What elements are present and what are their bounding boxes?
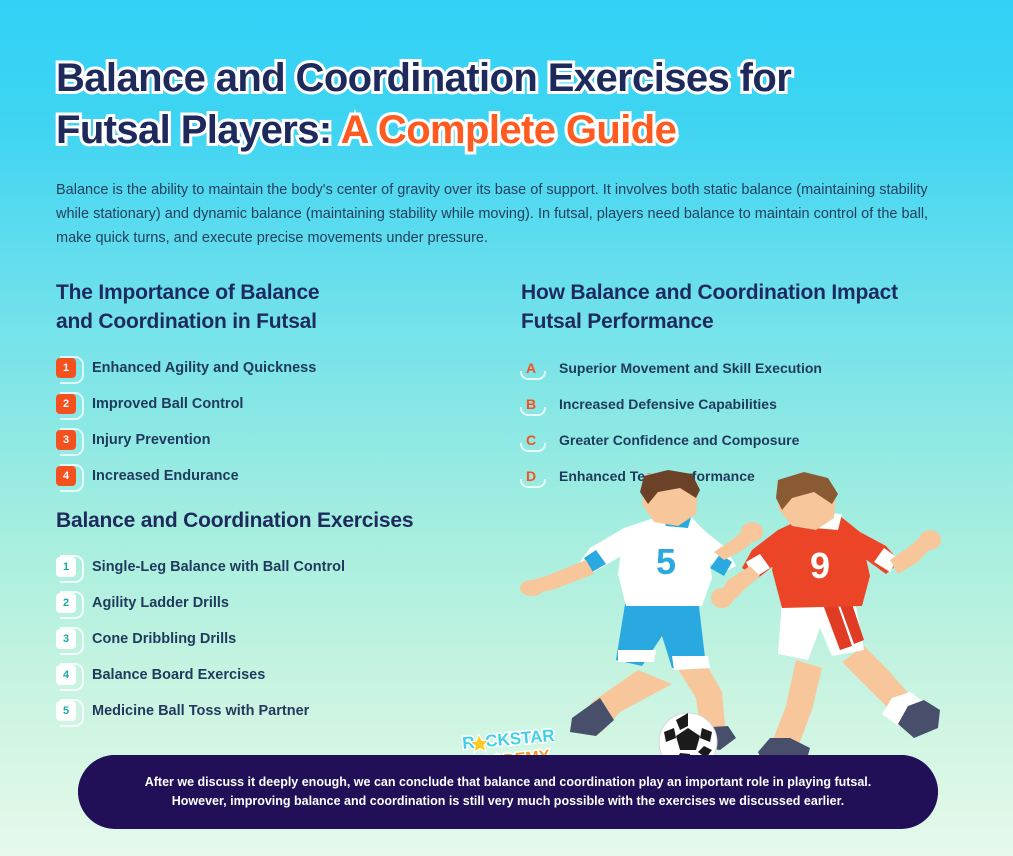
players-svg: 5 <box>520 470 980 770</box>
heading-line-2: Futsal Performance <box>521 307 971 336</box>
section-heading-importance: The Importance of Balance and Coordinati… <box>56 278 486 336</box>
footer-conclusion: After we discuss it deeply enough, we ca… <box>78 755 938 829</box>
list-item-label: Medicine Ball Toss with Partner <box>92 703 309 719</box>
list-item[interactable]: 2 Improved Ball Control <box>56 386 486 422</box>
player-right: 9 <box>711 472 941 764</box>
list-item-label: Increased Defensive Capabilities <box>559 396 777 412</box>
list-item[interactable]: 2 Agility Ladder Drills <box>56 585 496 621</box>
list-item-label: Cone Dribbling Drills <box>92 631 236 647</box>
intro-paragraph: Balance is the ability to maintain the b… <box>56 178 956 250</box>
list-item[interactable]: C Greater Confidence and Composure <box>521 422 971 458</box>
number-badge: 1 <box>56 557 76 577</box>
list-item-label: Greater Confidence and Composure <box>559 432 799 448</box>
heading-line-2: and Coordination in Futsal <box>56 307 486 336</box>
list-item[interactable]: 4 Balance Board Exercises <box>56 657 496 693</box>
list-item-label: Balance Board Exercises <box>92 667 265 683</box>
list-item[interactable]: 3 Injury Prevention <box>56 422 486 458</box>
title-accent-text: A Complete Guide <box>341 108 677 152</box>
list-item-label: Enhanced Agility and Quickness <box>92 360 316 376</box>
player-left: 5 <box>520 470 763 750</box>
list-item-label: Single-Leg Balance with Ball Control <box>92 559 345 575</box>
section-heading-exercises: Balance and Coordination Exercises <box>56 506 496 535</box>
player-left-number: 5 <box>656 541 676 582</box>
list-item-label: Agility Ladder Drills <box>92 595 229 611</box>
section-importance: The Importance of Balance and Coordinati… <box>56 278 486 494</box>
footer-line-2: However, improving balance and coordinat… <box>108 792 908 811</box>
heading-line-1: How Balance and Coordination Impact <box>521 278 971 307</box>
page-title: Balance and Coordination Exercises for F… <box>56 52 956 156</box>
number-badge: 5 <box>56 701 76 721</box>
list-item-label: Increased Endurance <box>92 468 239 484</box>
section-exercises: Balance and Coordination Exercises 1 Sin… <box>56 506 496 729</box>
number-badge: 3 <box>56 629 76 649</box>
list-item-label: Improved Ball Control <box>92 396 243 412</box>
futsal-players-illustration: 5 <box>520 470 980 770</box>
letter-badge: B <box>521 393 541 415</box>
section-heading-impact: How Balance and Coordination Impact Futs… <box>521 278 971 336</box>
number-badge: 4 <box>56 466 76 486</box>
letter-badge: A <box>521 357 541 379</box>
list-item-label: Superior Movement and Skill Execution <box>559 360 822 376</box>
number-badge: 3 <box>56 430 76 450</box>
footer-text: After we discuss it deeply enough, we ca… <box>108 773 908 811</box>
list-item[interactable]: B Increased Defensive Capabilities <box>521 386 971 422</box>
number-badge: 4 <box>56 665 76 685</box>
player-right-number: 9 <box>810 545 830 586</box>
infographic-page: Balance and Coordination Exercises for F… <box>0 0 1013 856</box>
footer-line-1: After we discuss it deeply enough, we ca… <box>108 773 908 792</box>
list-item[interactable]: 1 Enhanced Agility and Quickness <box>56 350 486 386</box>
number-badge: 1 <box>56 358 76 378</box>
title-main-text: Futsal Players: <box>56 108 341 152</box>
title-line-1: Balance and Coordination Exercises for <box>56 52 956 104</box>
list-item[interactable]: 1 Single-Leg Balance with Ball Control <box>56 549 496 585</box>
title-line-2: Futsal Players: A Complete Guide <box>56 104 956 156</box>
number-badge: 2 <box>56 593 76 613</box>
list-item-label: Injury Prevention <box>92 432 210 448</box>
list-item[interactable]: 5 Medicine Ball Toss with Partner <box>56 693 496 729</box>
importance-list: 1 Enhanced Agility and Quickness 2 Impro… <box>56 350 486 494</box>
heading-line-1: The Importance of Balance <box>56 278 486 307</box>
exercises-list: 1 Single-Leg Balance with Ball Control 2… <box>56 549 496 729</box>
number-badge: 2 <box>56 394 76 414</box>
letter-badge: C <box>521 429 541 451</box>
section-impact: How Balance and Coordination Impact Futs… <box>521 278 971 494</box>
list-item[interactable]: A Superior Movement and Skill Execution <box>521 350 971 386</box>
list-item[interactable]: 3 Cone Dribbling Drills <box>56 621 496 657</box>
list-item[interactable]: 4 Increased Endurance <box>56 458 486 494</box>
